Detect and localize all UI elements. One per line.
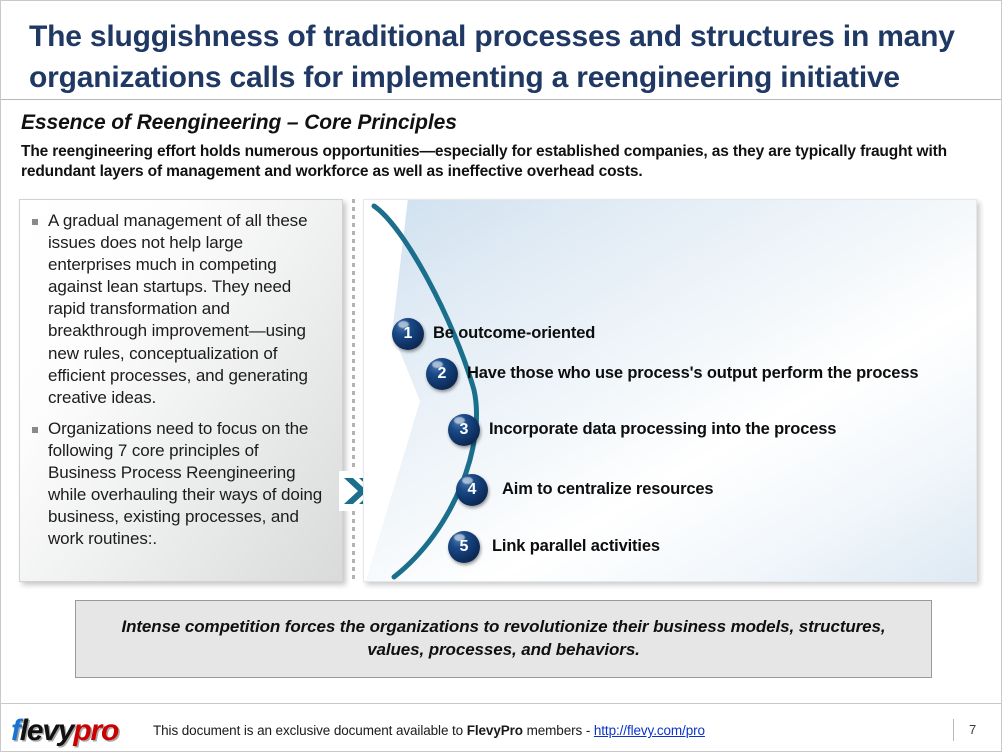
step-number-badge: 4 [456,474,488,506]
logo-text-levy: levy [20,714,74,747]
step-number-badge: 1 [392,318,424,350]
step-label: Incorporate data processing into the pro… [489,419,959,440]
page-title: The sluggishness of traditional processe… [29,17,959,98]
connector-curve [364,200,977,582]
left-text-panel: A gradual management of all these issues… [19,199,343,582]
list-item: Organizations need to focus on the follo… [30,418,330,551]
callout-text: Intense competition forces the organizat… [106,616,901,662]
step-item-2: 2 Have those who use process's output pe… [426,358,962,390]
slide-body: Essence of Reengineering – Core Principl… [1,101,1002,704]
step-label: Be outcome-oriented [433,323,853,344]
section-subtext: The reengineering effort holds numerous … [21,142,966,183]
step-item-4: 4 Aim to centralize resources [456,474,932,506]
step-item-1: 1 Be outcome-oriented [392,318,853,350]
flevypro-logo: flevypro [11,714,118,748]
vertical-dotted-divider [352,199,355,582]
list-item: A gradual management of all these issues… [30,210,330,409]
title-band: The sluggishness of traditional processe… [1,1,1002,100]
footer-brand: FlevyPro [467,723,523,738]
step-label: Aim to centralize resources [502,479,932,500]
principles-diagram-panel: 1 Be outcome-oriented 2 Have those who u… [363,199,977,582]
step-number-badge: 5 [448,531,480,563]
footer-divider [953,719,954,741]
flevypro-link[interactable]: http://flevy.com/pro [594,723,705,738]
footer-notice: This document is an exclusive document a… [153,723,705,738]
logo-text-pro: pro [73,714,118,747]
step-label: Have those who use process's output perf… [467,363,962,384]
step-item-5: 5 Link parallel activities [448,531,932,563]
section-heading: Essence of Reengineering – Core Principl… [21,111,457,135]
bullet-list: A gradual management of all these issues… [30,210,330,550]
step-number-badge: 2 [426,358,458,390]
footer-notice-suffix: members - [523,723,594,738]
page-number: 7 [969,722,976,737]
summary-callout-box: Intense competition forces the organizat… [75,600,932,678]
slide-canvas: The sluggishness of traditional processe… [0,0,1002,752]
step-label: Link parallel activities [492,536,932,557]
step-number-badge: 3 [448,414,480,446]
footer-notice-prefix: This document is an exclusive document a… [153,723,467,738]
logo-letter-f: f [11,714,20,747]
step-item-3: 3 Incorporate data processing into the p… [448,414,959,446]
footer-bar: flevypro This document is an exclusive d… [1,705,1002,752]
